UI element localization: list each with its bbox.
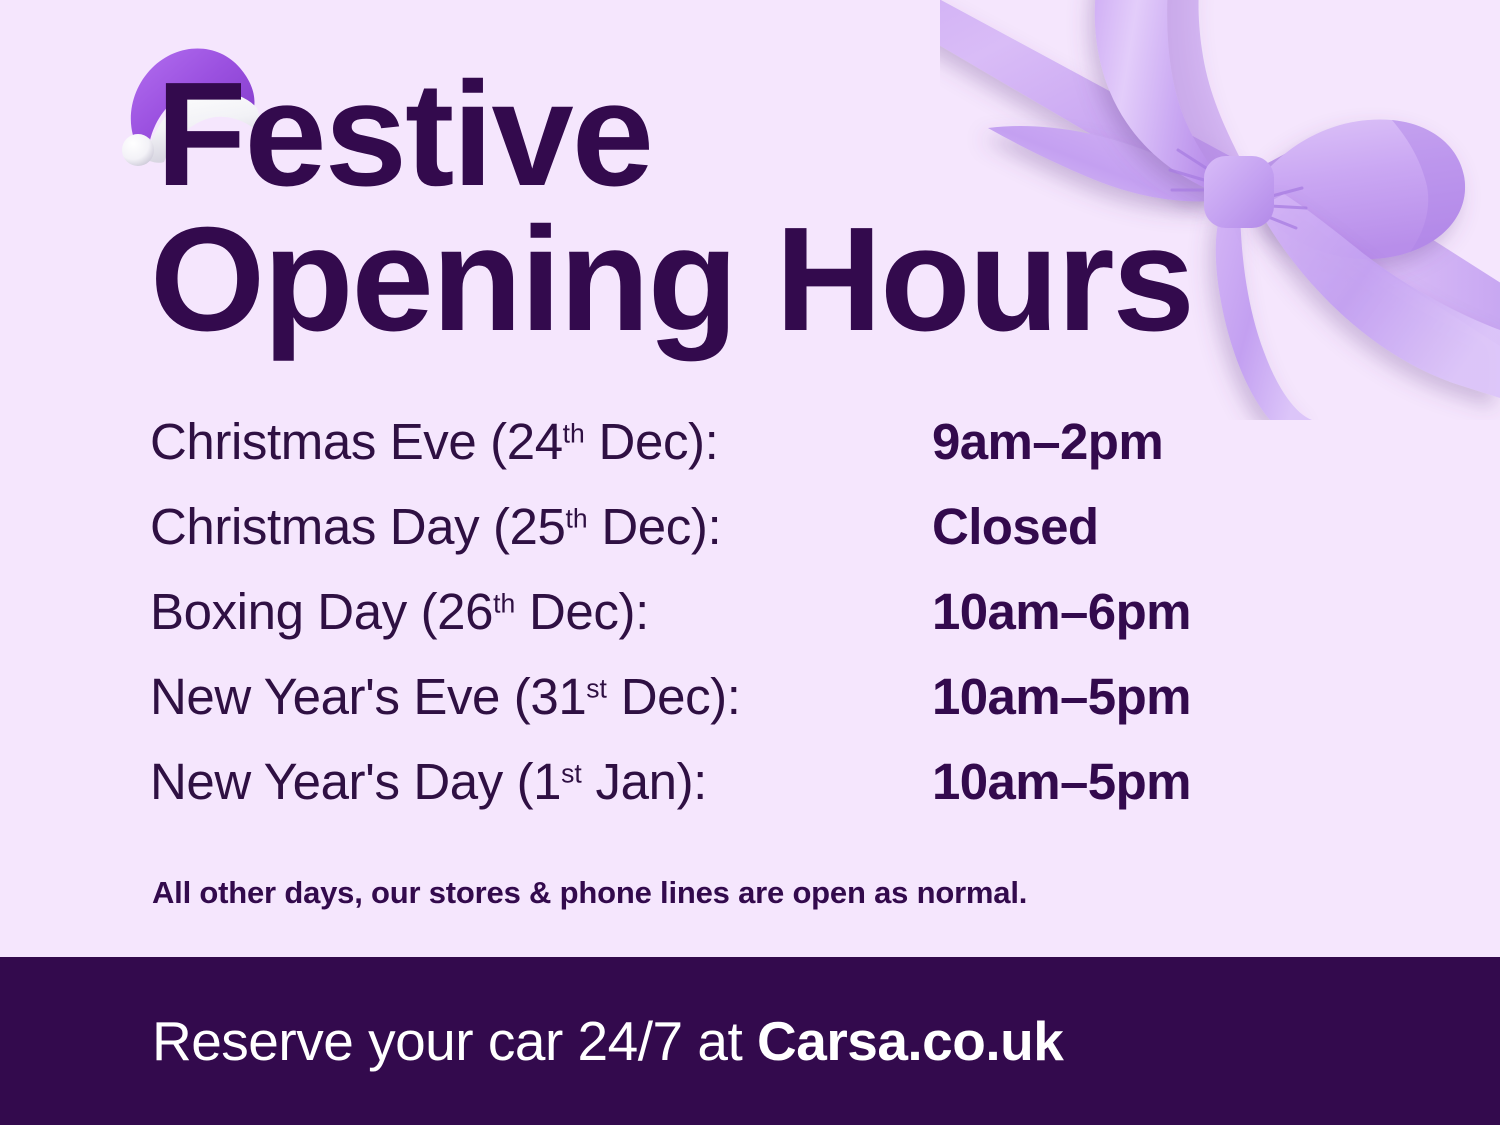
hours-time-value: 10am–5pm	[932, 667, 1191, 726]
hours-day-suffix: Dec):	[585, 413, 719, 470]
hours-row: New Year's Day (1st Jan): 10am–5pm	[150, 752, 1310, 837]
hours-time-value: 9am–2pm	[932, 412, 1163, 471]
hours-day-prefix: Christmas Eve (24	[150, 413, 563, 470]
brand-name[interactable]: Carsa.co.uk	[757, 1010, 1063, 1072]
hours-row: New Year's Eve (31st Dec): 10am–5pm	[150, 667, 1310, 752]
hours-day-prefix: Christmas Day (25	[150, 498, 565, 555]
hours-day-ordinal: th	[563, 419, 585, 449]
hours-row: Boxing Day (26th Dec): 10am–6pm	[150, 582, 1310, 667]
hours-day-prefix: New Year's Eve (31	[150, 668, 586, 725]
cta-text: Reserve your car 24/7 at Carsa.co.uk	[152, 1009, 1063, 1073]
cta-lead: Reserve your car 24/7 at	[152, 1010, 757, 1072]
hours-day-ordinal: st	[561, 759, 582, 789]
hours-day-ordinal: st	[586, 674, 607, 704]
hours-day-ordinal: th	[493, 589, 515, 619]
hours-day-label: New Year's Day (1st Jan):	[150, 752, 932, 811]
footnote-text: All other days, our stores & phone lines…	[152, 875, 1027, 911]
hours-day-prefix: New Year's Day (1	[150, 753, 561, 810]
hours-day-prefix: Boxing Day (26	[150, 583, 493, 640]
hours-day-suffix: Dec):	[607, 668, 741, 725]
opening-hours-list: Christmas Eve (24th Dec): 9am–2pm Christ…	[150, 412, 1310, 837]
page-title-line-1: Festive	[150, 62, 1300, 207]
hours-day-label: Christmas Day (25th Dec):	[150, 497, 932, 556]
hours-day-label: Boxing Day (26th Dec):	[150, 582, 932, 641]
hours-day-ordinal: th	[565, 504, 587, 534]
hours-day-label: Christmas Eve (24th Dec):	[150, 412, 932, 471]
hours-row: Christmas Day (25th Dec): Closed	[150, 497, 1310, 582]
hours-day-suffix: Jan):	[582, 753, 707, 810]
hours-time-value: 10am–6pm	[932, 582, 1191, 641]
page-title-line-2: Opening Hours	[150, 207, 1300, 352]
hours-time-value: Closed	[932, 497, 1098, 556]
page-title: Festive Opening Hours	[150, 62, 1300, 352]
hours-row: Christmas Eve (24th Dec): 9am–2pm	[150, 412, 1310, 497]
hours-time-value: 10am–5pm	[932, 752, 1191, 811]
festive-opening-hours-poster: Festive Opening Hours Christmas Eve (24t…	[0, 0, 1500, 1125]
hours-day-label: New Year's Eve (31st Dec):	[150, 667, 932, 726]
hours-day-suffix: Dec):	[515, 583, 649, 640]
bottom-cta-bar: Reserve your car 24/7 at Carsa.co.uk	[0, 957, 1500, 1125]
hours-day-suffix: Dec):	[588, 498, 722, 555]
